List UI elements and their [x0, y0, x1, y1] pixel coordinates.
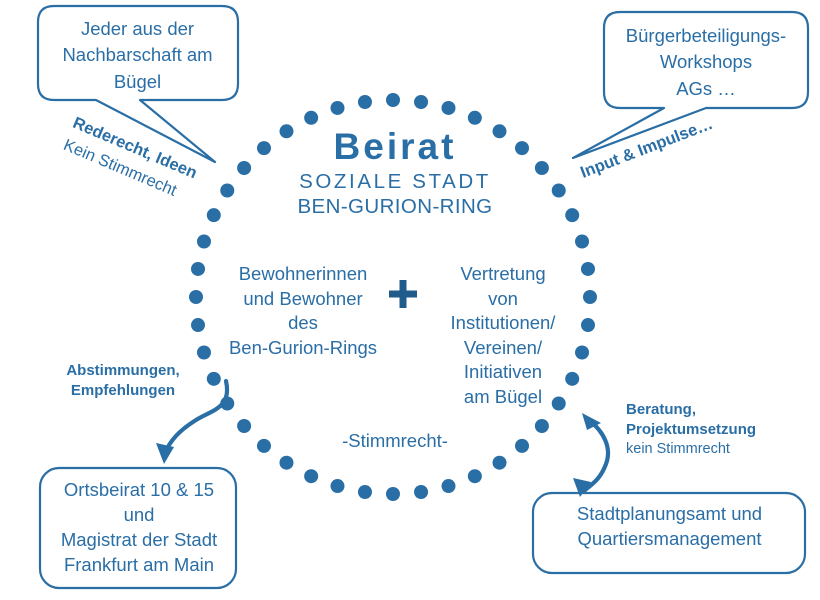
center-left-column: Bewohnerinnenund BewohnerdesBen-Gurion-R… — [214, 262, 392, 360]
ring-dot — [468, 469, 482, 483]
connector-label-bottom-right: Beratung,Projektumsetzung kein Stimmrech… — [626, 400, 806, 459]
ring-dot — [493, 456, 507, 470]
ring-dot — [565, 208, 579, 222]
ring-dot — [442, 101, 456, 115]
connector-label-bottom-left: Abstimmungen,Empfehlungen — [48, 361, 198, 400]
center-right-column: VertretungvonInstitutionen/Vereinen/Init… — [428, 262, 578, 410]
ring-dot — [207, 208, 221, 222]
ring-dot — [331, 101, 345, 115]
page-title: Beirat — [260, 128, 530, 167]
ring-dot — [575, 235, 589, 249]
ring-dot — [535, 161, 549, 175]
arrow-bottom-right — [573, 413, 608, 497]
diagram-canvas: Beirat SOZIALE STADT BEN-GURION-RING Bew… — [0, 0, 820, 600]
box-bottom-right-text: Stadtplanungsamt undQuartiersmanagement — [537, 502, 802, 552]
ring-dot — [583, 290, 597, 304]
subtitle-soziale-stadt: SOZIALE STADT — [260, 170, 530, 194]
ring-dot — [304, 111, 318, 125]
ring-dot — [237, 419, 251, 433]
ring-dot — [581, 318, 595, 332]
ring-dot — [257, 439, 271, 453]
arrow-bl-head — [156, 443, 174, 464]
bubble-top-right-text: Bürgerbeteiligungs-WorkshopsAGs … — [608, 23, 804, 102]
ring-dot — [535, 419, 549, 433]
ring-dot — [207, 372, 221, 386]
ring-dot — [581, 262, 595, 276]
connector-label-bottom-right-bold: Beratung,Projektumsetzung — [626, 400, 806, 440]
subtitle-ben-gurion-ring: BEN-GURION-RING — [260, 195, 530, 219]
ring-dot — [358, 485, 372, 499]
arrow-br-curve — [584, 420, 608, 491]
ring-dot — [386, 487, 400, 501]
ring-dot — [237, 161, 251, 175]
ring-dot — [552, 183, 566, 197]
ring-dot — [386, 93, 400, 107]
ring-dot — [279, 456, 293, 470]
ring-dot — [191, 262, 205, 276]
ring-dot — [197, 235, 211, 249]
center-title-block: Beirat SOZIALE STADT BEN-GURION-RING — [260, 128, 530, 219]
ring-dot — [191, 318, 205, 332]
ring-dot — [197, 346, 211, 360]
bubble-top-left-text: Jeder aus derNachbarschaft amBügel — [40, 16, 235, 95]
center-footer-stimmrecht: -Stimmrecht- — [300, 430, 490, 452]
ring-dot — [414, 485, 428, 499]
ring-dot — [331, 479, 345, 493]
ring-dot — [358, 95, 372, 109]
ring-dot — [442, 479, 456, 493]
ring-dot — [304, 469, 318, 483]
ring-dot — [220, 183, 234, 197]
plus-icon — [386, 277, 420, 311]
ring-dot — [515, 439, 529, 453]
ring-dot — [189, 290, 203, 304]
plus-glyph — [386, 277, 420, 311]
connector-label-bottom-right-normal: kein Stimmrecht — [626, 440, 806, 459]
ring-dot — [414, 95, 428, 109]
ring-dot — [468, 111, 482, 125]
box-bottom-left-text: Ortsbeirat 10 & 15undMagistrat der Stadt… — [44, 478, 234, 578]
